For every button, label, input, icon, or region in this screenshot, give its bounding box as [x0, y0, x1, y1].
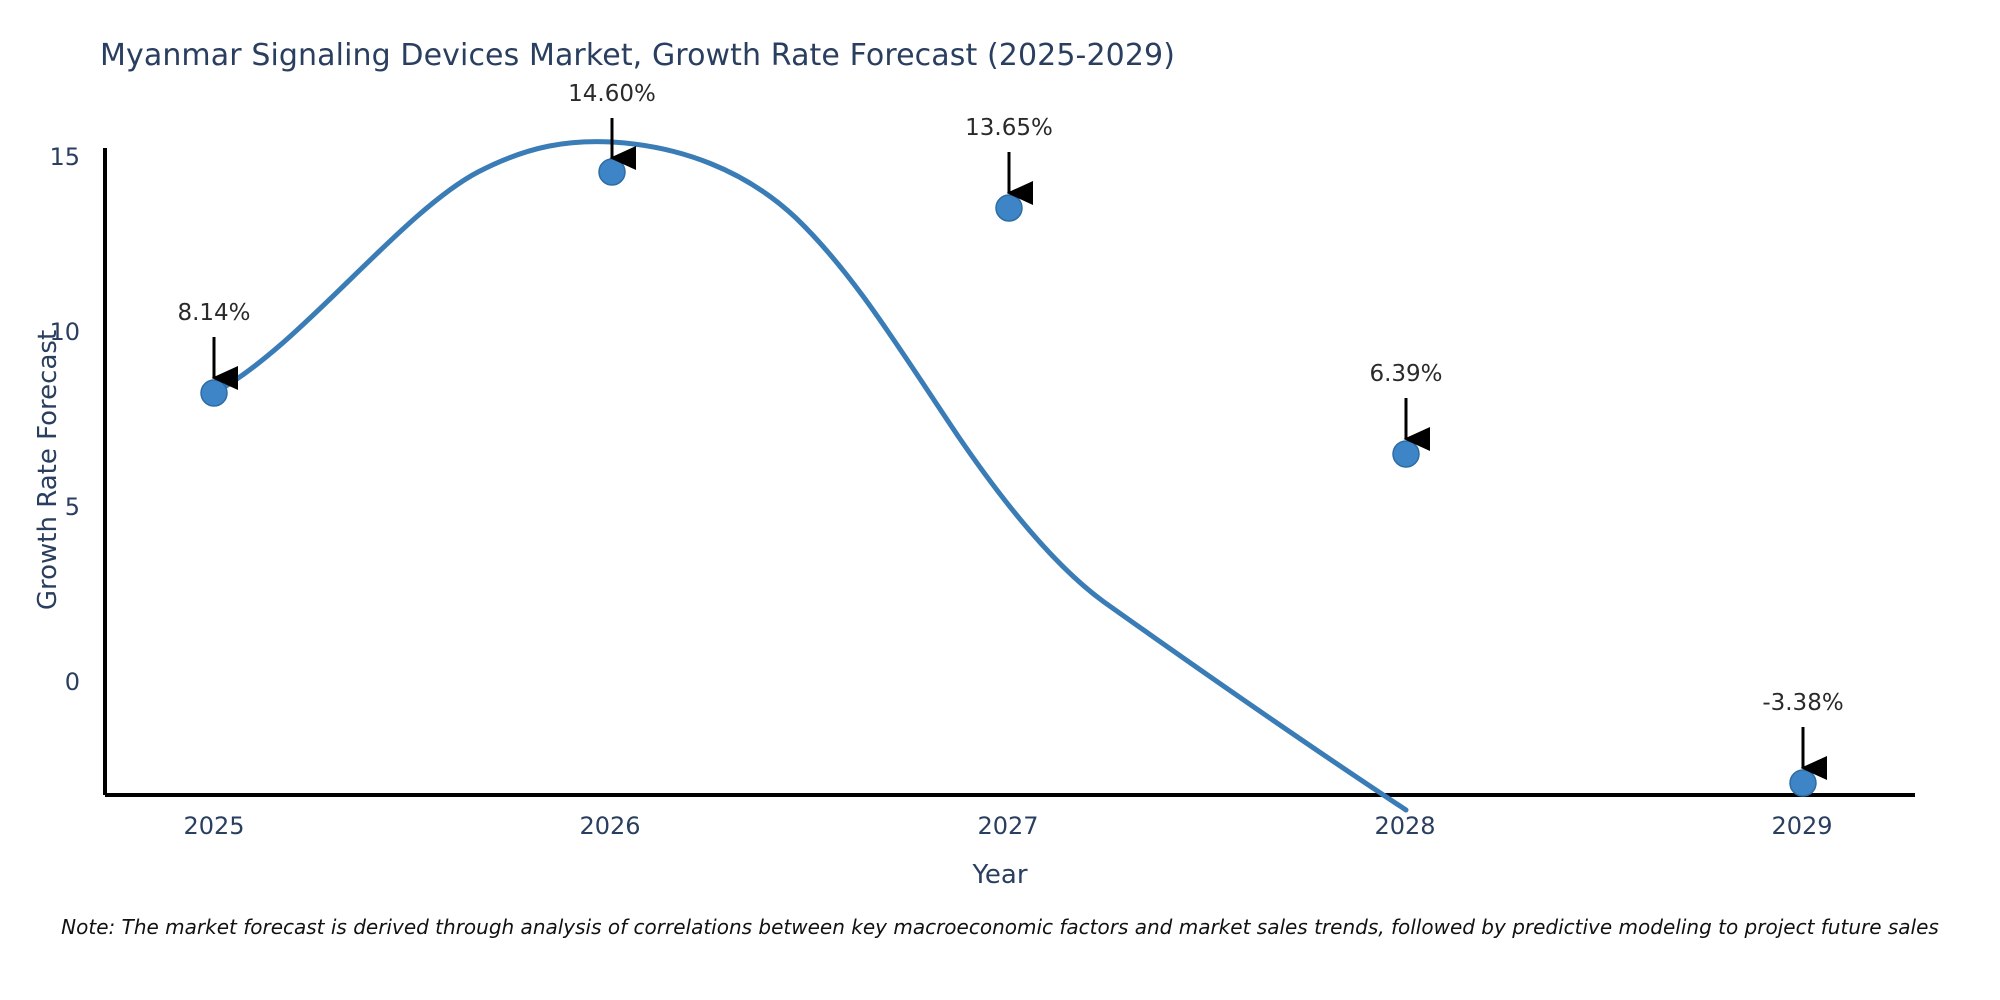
data-line-growth-rate-forecast: [214, 142, 1406, 810]
data-point-2028[interactable]: [1393, 441, 1419, 467]
data-point-2027[interactable]: [996, 195, 1022, 221]
data-label-2026: 14.60%: [512, 81, 712, 107]
footnote: Note: The market forecast is derived thr…: [0, 915, 2000, 939]
data-point-2029[interactable]: [1790, 770, 1816, 796]
data-label-2027: 13.65%: [909, 115, 1109, 141]
data-label-2028: 6.39%: [1306, 361, 1506, 387]
chart-canvas: Myanmar Signaling Devices Market, Growth…: [0, 0, 2000, 1000]
data-label-2029: -3.38%: [1703, 690, 1903, 716]
plot-area: [0, 0, 2000, 1000]
data-point-2025[interactable]: [201, 380, 227, 406]
data-label-2025: 8.14%: [114, 300, 314, 326]
data-point-2026[interactable]: [599, 159, 625, 185]
